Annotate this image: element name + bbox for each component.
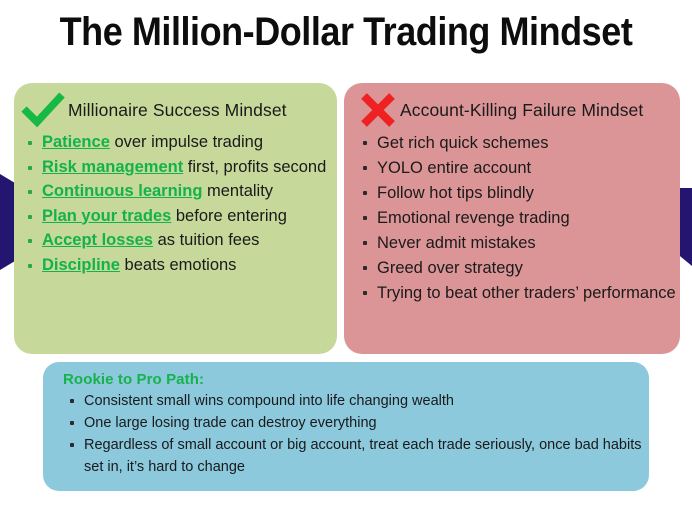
list-item: Discipline beats emotions xyxy=(25,254,337,278)
list-item: Patience over impulse trading xyxy=(25,131,337,155)
millionaire-success-panel: Millionaire Success Mindset Patience ove… xyxy=(14,83,337,354)
check-mark-icon xyxy=(20,90,66,130)
cross-mark-icon xyxy=(356,90,400,130)
list-item: Continuous learning mentality xyxy=(25,180,337,204)
failure-mindset-panel: Account-Killing Failure Mindset Get rich… xyxy=(344,83,680,354)
item-rest: over impulse trading xyxy=(110,133,263,151)
list-item: YOLO entire account xyxy=(360,156,680,180)
item-rest: as tuition fees xyxy=(153,231,259,249)
keyword: Patience xyxy=(42,133,110,151)
list-item: Trying to beat other traders’ performanc… xyxy=(360,281,680,305)
page-title: The Million-Dollar Trading Mindset xyxy=(35,8,658,56)
path-list: Consistent small wins compound into life… xyxy=(43,390,649,478)
item-rest: first, profits second xyxy=(183,158,326,176)
list-item: Follow hot tips blindly xyxy=(360,181,680,205)
list-item: Regardless of small account or big accou… xyxy=(67,434,649,478)
list-item: One large losing trade can destroy every… xyxy=(67,412,649,434)
good-list: Patience over impulse trading Risk manag… xyxy=(14,131,337,277)
keyword: Accept losses xyxy=(42,231,153,249)
list-item: Accept losses as tuition fees xyxy=(25,229,337,253)
path-panel-heading: Rookie to Pro Path: xyxy=(43,362,649,390)
list-item: Greed over strategy xyxy=(360,256,680,280)
keyword: Risk management xyxy=(42,158,183,176)
good-panel-heading: Millionaire Success Mindset xyxy=(68,100,287,121)
list-item: Emotional revenge trading xyxy=(360,206,680,230)
bad-list: Get rich quick schemes YOLO entire accou… xyxy=(344,131,680,305)
list-item: Risk management first, profits second xyxy=(25,156,337,180)
list-item: Never admit mistakes xyxy=(360,231,680,255)
item-rest: before entering xyxy=(171,207,287,225)
list-item: Get rich quick schemes xyxy=(360,131,680,155)
rookie-to-pro-panel: Rookie to Pro Path: Consistent small win… xyxy=(43,362,649,491)
list-item: Plan your trades before entering xyxy=(25,205,337,229)
keyword: Plan your trades xyxy=(42,207,171,225)
bad-panel-header: Account-Killing Failure Mindset xyxy=(344,83,680,131)
item-rest: mentality xyxy=(202,182,273,200)
list-item: Consistent small wins compound into life… xyxy=(67,390,649,412)
keyword: Discipline xyxy=(42,256,120,274)
keyword: Continuous learning xyxy=(42,182,202,200)
item-rest: beats emotions xyxy=(120,256,236,274)
good-panel-header: Millionaire Success Mindset xyxy=(14,83,337,131)
bad-panel-heading: Account-Killing Failure Mindset xyxy=(400,100,643,121)
